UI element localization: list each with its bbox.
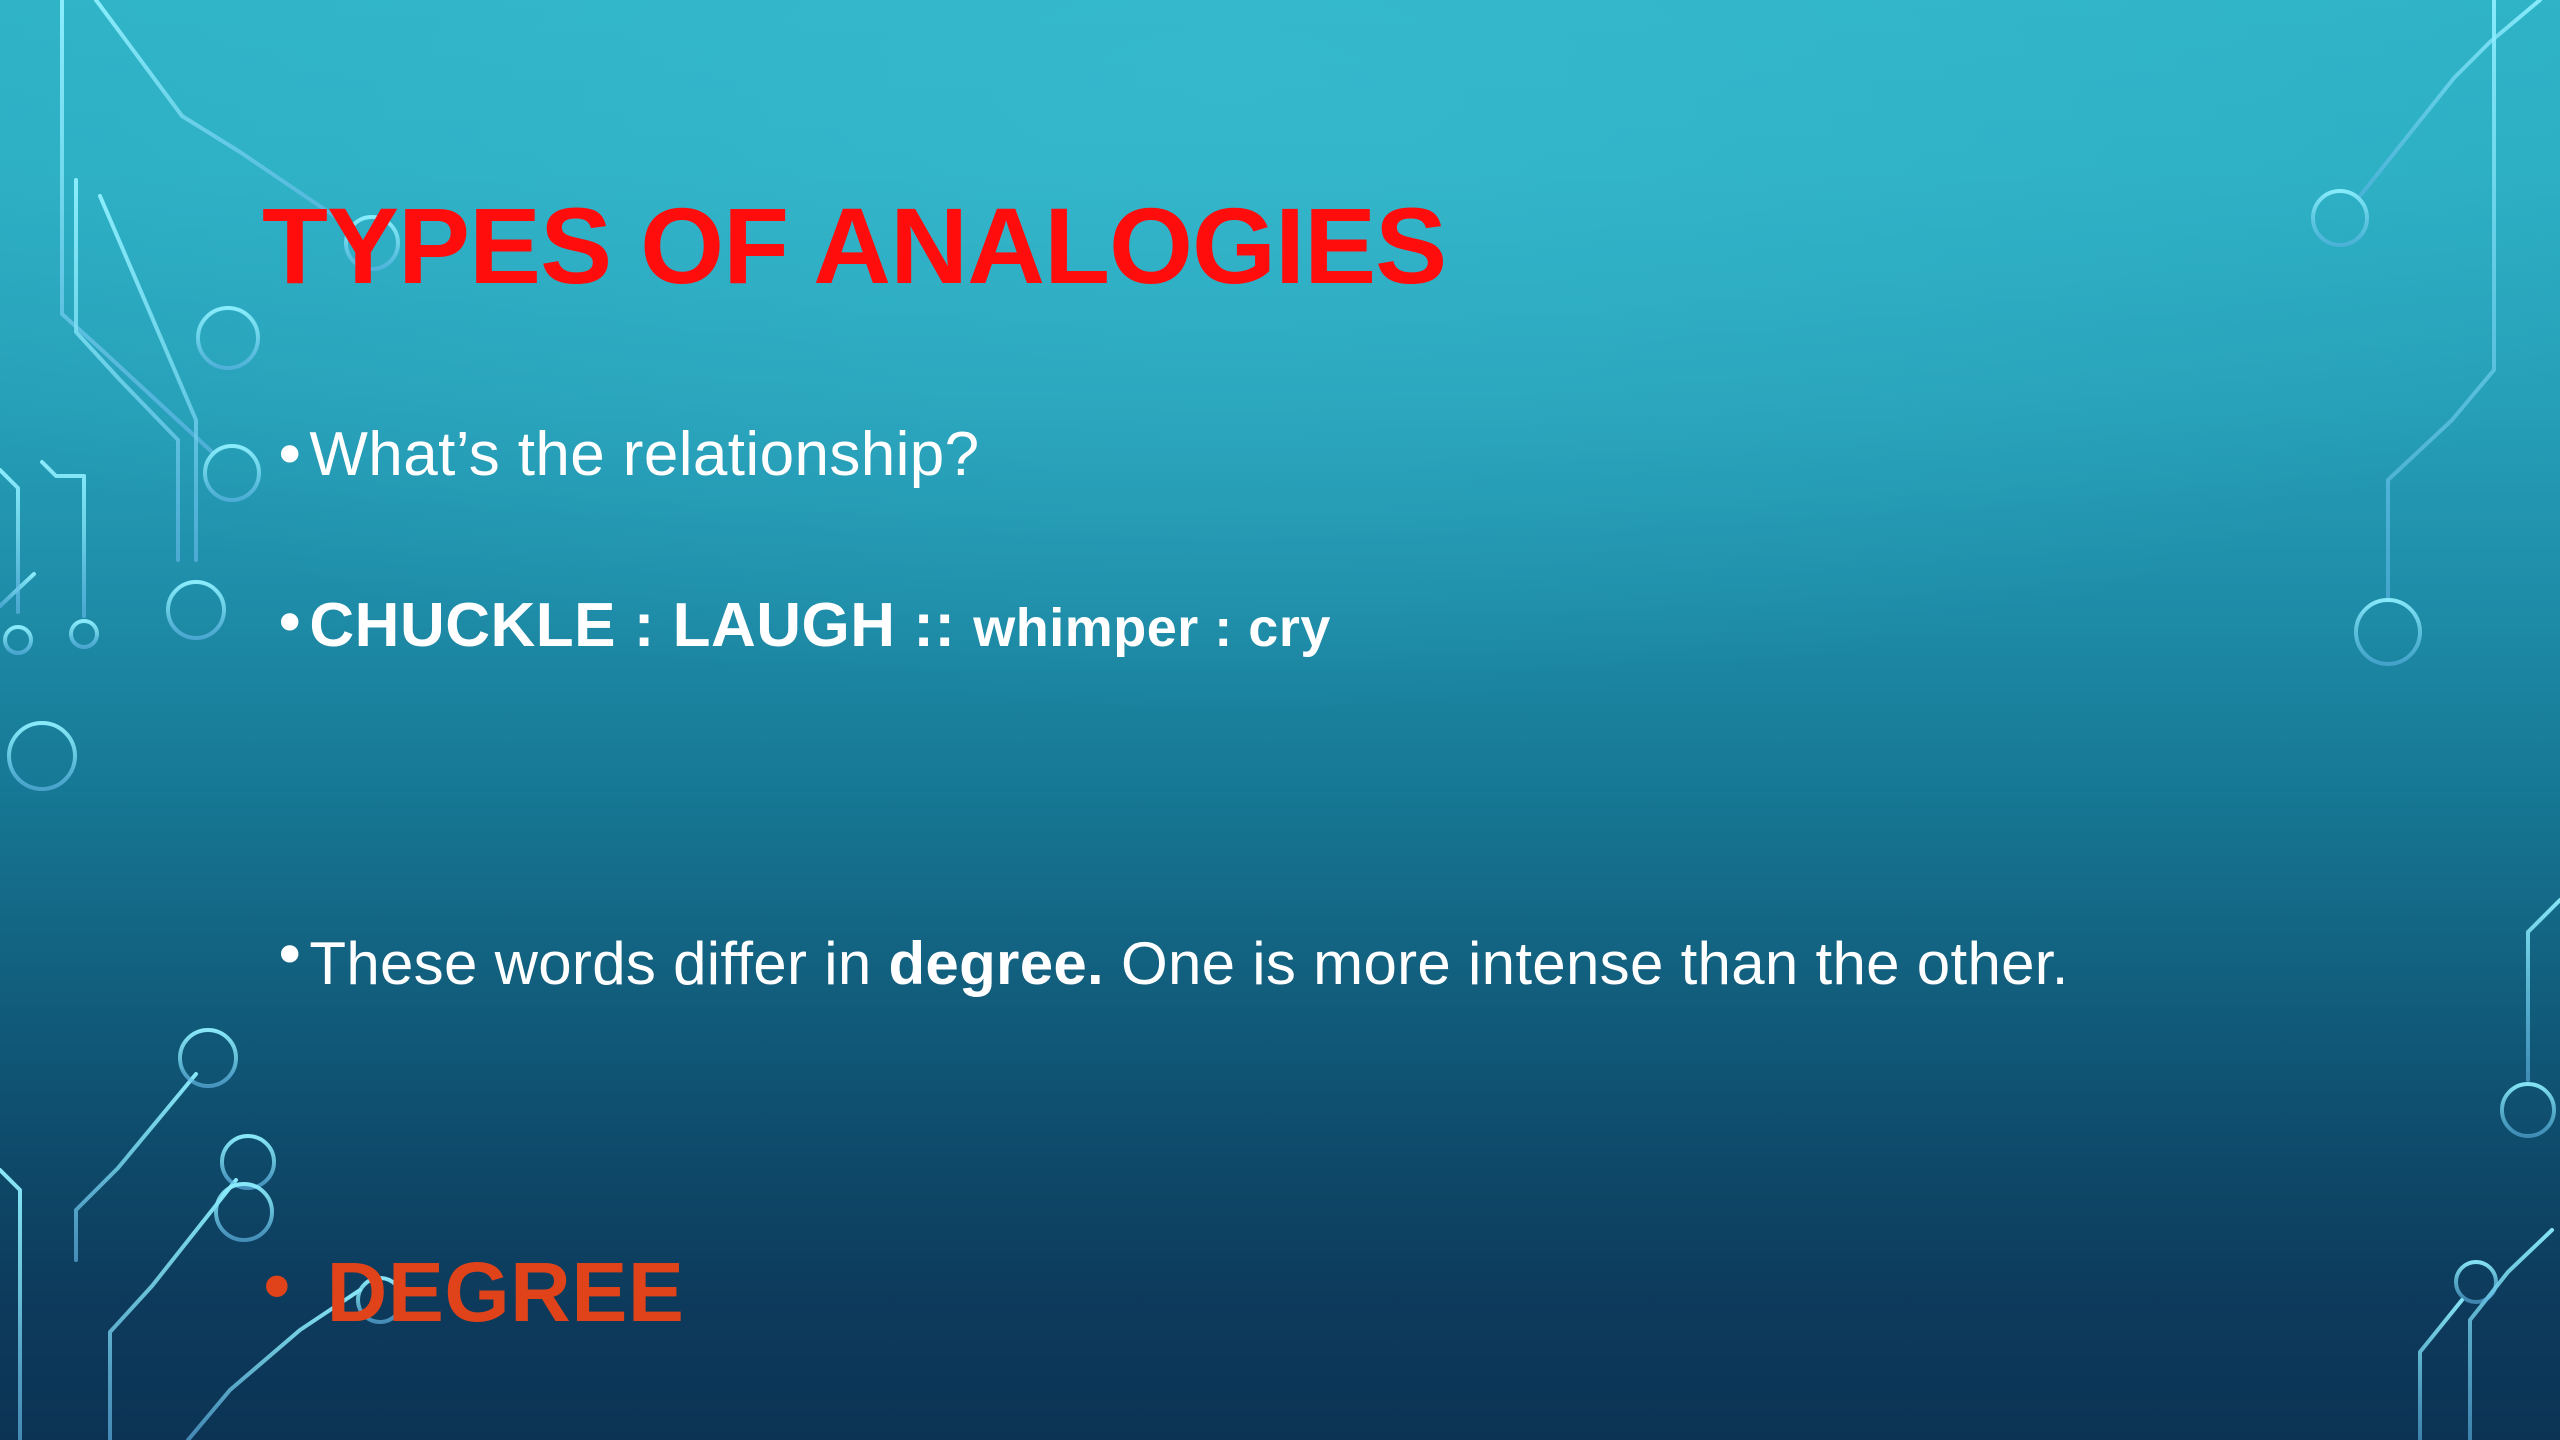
bullet-text-explanation: These words differ in degree. One is mor… [309,920,2269,1007]
explanation-emphasis: degree. [888,930,1104,997]
analogy-lowercase-pair: whimper : cry [973,598,1331,658]
explanation-tail: One is more intense than the other. [1104,930,2069,997]
bullet-text-question: What’s the relationship? [309,420,979,489]
bullet-marker-icon: • [272,426,307,486]
explanation-lead: These words differ in [309,930,888,997]
bullet-text-analogy: CHUCKLE : LAUGH :: whimper : cry [309,590,1330,661]
bullet-item-answer: • DEGREE [255,1250,684,1334]
bullet-item-question: • What’s the relationship? [272,420,980,489]
bullet-text-answer: DEGREE [327,1250,685,1334]
bullet-marker-icon: • [272,594,307,654]
bullet-item-analogy: • CHUCKLE : LAUGH :: whimper : cry [272,590,1331,661]
bullet-marker-icon: • [255,1252,299,1326]
analogy-uppercase-pair: CHUCKLE : LAUGH :: [309,591,973,660]
bullet-marker-icon: • [272,926,307,986]
bullet-item-explanation: • These words differ in degree. One is m… [272,920,2512,1007]
presentation-slide: TYPES OF ANALOGIES • What’s the relation… [0,0,2560,1440]
page-title: TYPES OF ANALOGIES [262,192,1446,300]
slide-content: TYPES OF ANALOGIES • What’s the relation… [0,0,2560,1440]
